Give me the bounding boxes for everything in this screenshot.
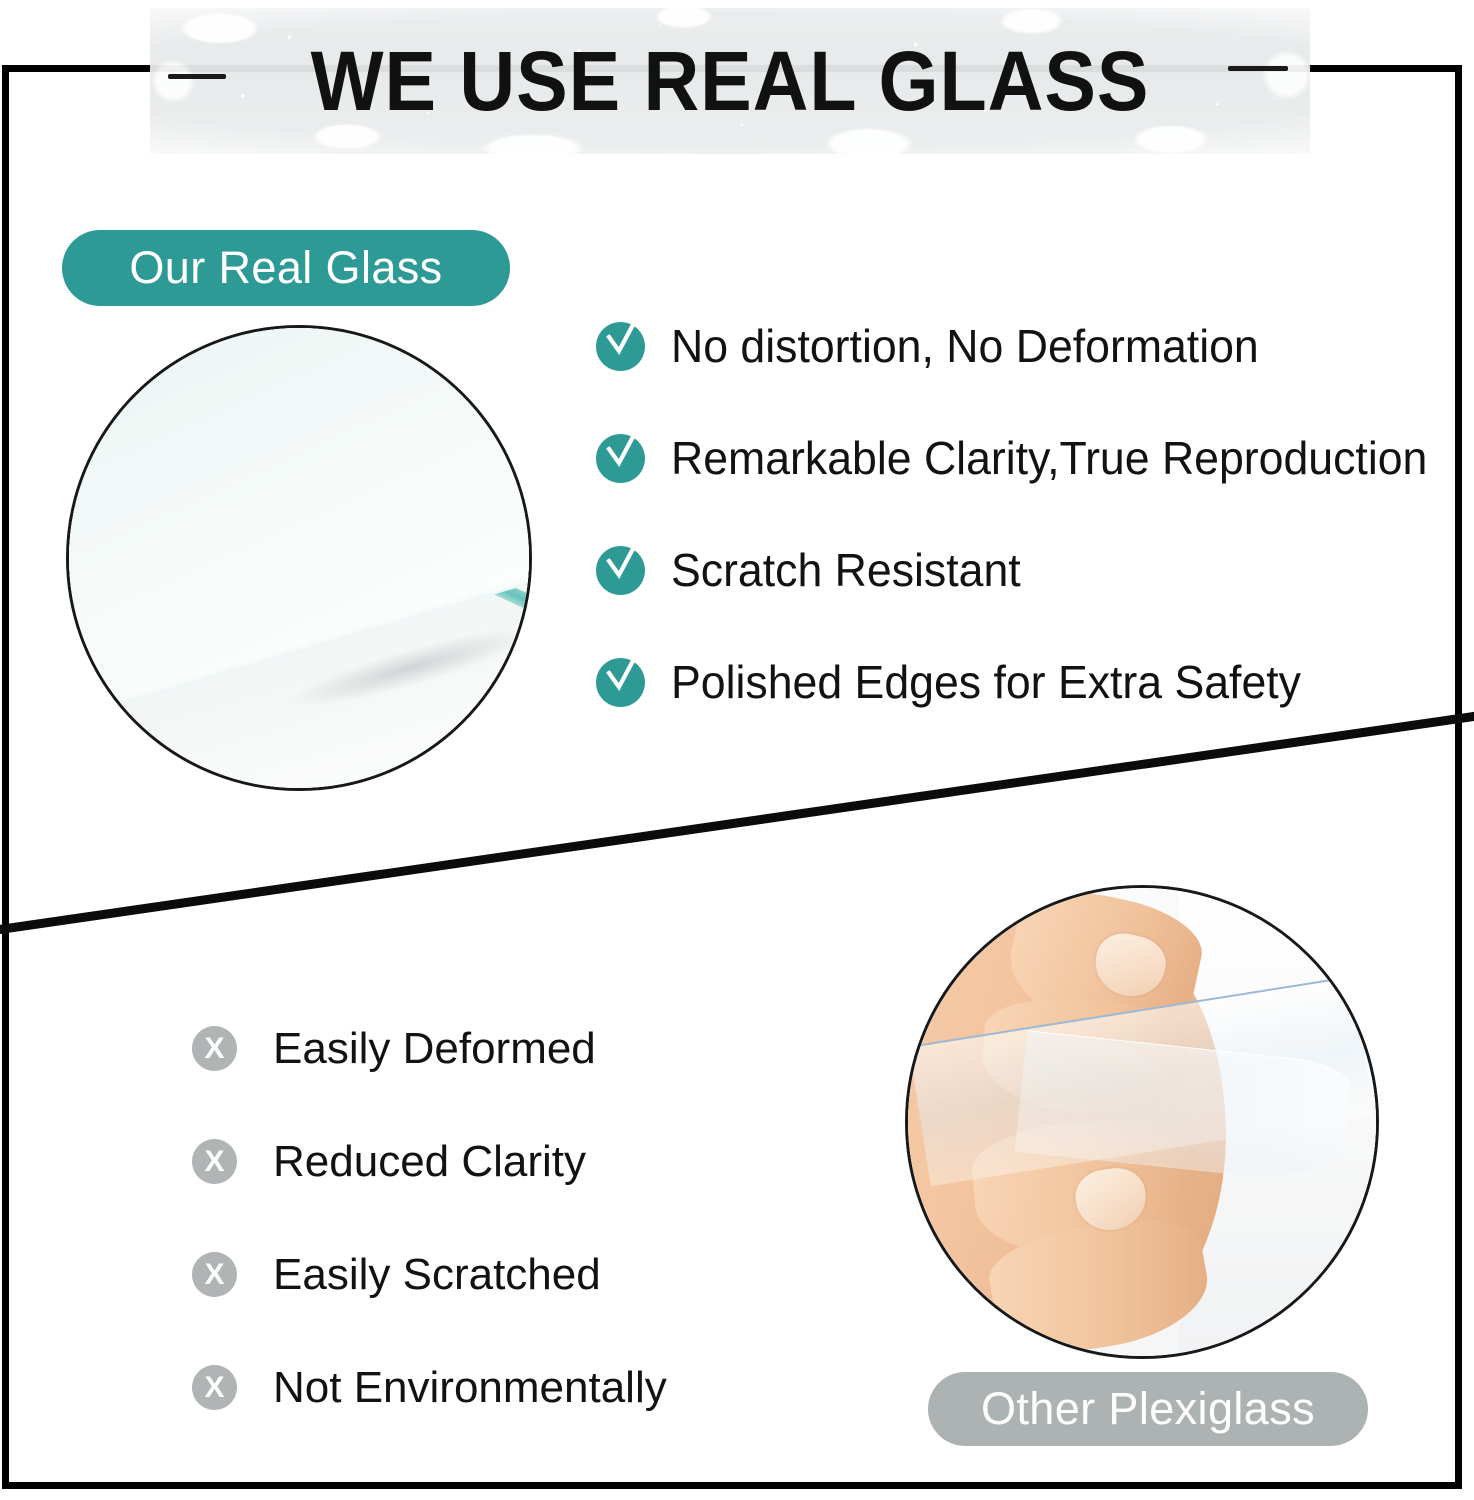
list-item: No distortion, No Deformation bbox=[596, 290, 1451, 402]
x-circle-icon: X bbox=[192, 1139, 237, 1184]
list-item: Polished Edges for Extra Safety bbox=[596, 626, 1451, 738]
list-item-label: Not Environmentally bbox=[273, 1363, 667, 1413]
badge-other-plexiglass: Other Plexiglass bbox=[928, 1372, 1368, 1446]
list-item: Remarkable Clarity,True Reproduction bbox=[596, 402, 1451, 514]
list-item: X Easily Deformed bbox=[192, 992, 667, 1105]
list-item: Scratch Resistant bbox=[596, 514, 1451, 626]
photo-real-glass bbox=[66, 325, 532, 791]
glass-corner-illustration bbox=[69, 328, 529, 788]
comparison-infographic: WE USE REAL GLASS Our Real Glass No dist… bbox=[0, 0, 1474, 1500]
x-circle-icon: X bbox=[192, 1365, 237, 1410]
list-item-label: Remarkable Clarity,True Reproduction bbox=[671, 431, 1427, 485]
check-circle-icon bbox=[596, 658, 645, 707]
check-circle-icon bbox=[596, 546, 645, 595]
list-item: X Reduced Clarity bbox=[192, 1105, 667, 1218]
x-circle-icon: X bbox=[192, 1026, 237, 1071]
cons-list: X Easily Deformed X Reduced Clarity X Ea… bbox=[192, 992, 667, 1444]
list-item-label: Polished Edges for Extra Safety bbox=[671, 655, 1301, 709]
x-circle-icon: X bbox=[192, 1252, 237, 1297]
list-item-label: Reduced Clarity bbox=[273, 1137, 586, 1187]
badge-our-real-glass: Our Real Glass bbox=[62, 230, 510, 306]
list-item-label: Easily Deformed bbox=[273, 1024, 596, 1074]
title-banner: WE USE REAL GLASS bbox=[150, 8, 1310, 154]
list-item: X Easily Scratched bbox=[192, 1218, 667, 1331]
page-title: WE USE REAL GLASS bbox=[196, 8, 1263, 154]
check-circle-icon bbox=[596, 434, 645, 483]
pros-list: No distortion, No Deformation Remarkable… bbox=[596, 290, 1451, 738]
list-item-label: Scratch Resistant bbox=[671, 543, 1021, 597]
list-item-label: No distortion, No Deformation bbox=[671, 319, 1259, 373]
list-item-label: Easily Scratched bbox=[273, 1250, 601, 1300]
photo-plexiglass bbox=[905, 885, 1379, 1359]
check-circle-icon bbox=[596, 322, 645, 371]
hand-bending-plexiglass-illustration bbox=[908, 888, 1376, 1356]
list-item: X Not Environmentally bbox=[192, 1331, 667, 1444]
